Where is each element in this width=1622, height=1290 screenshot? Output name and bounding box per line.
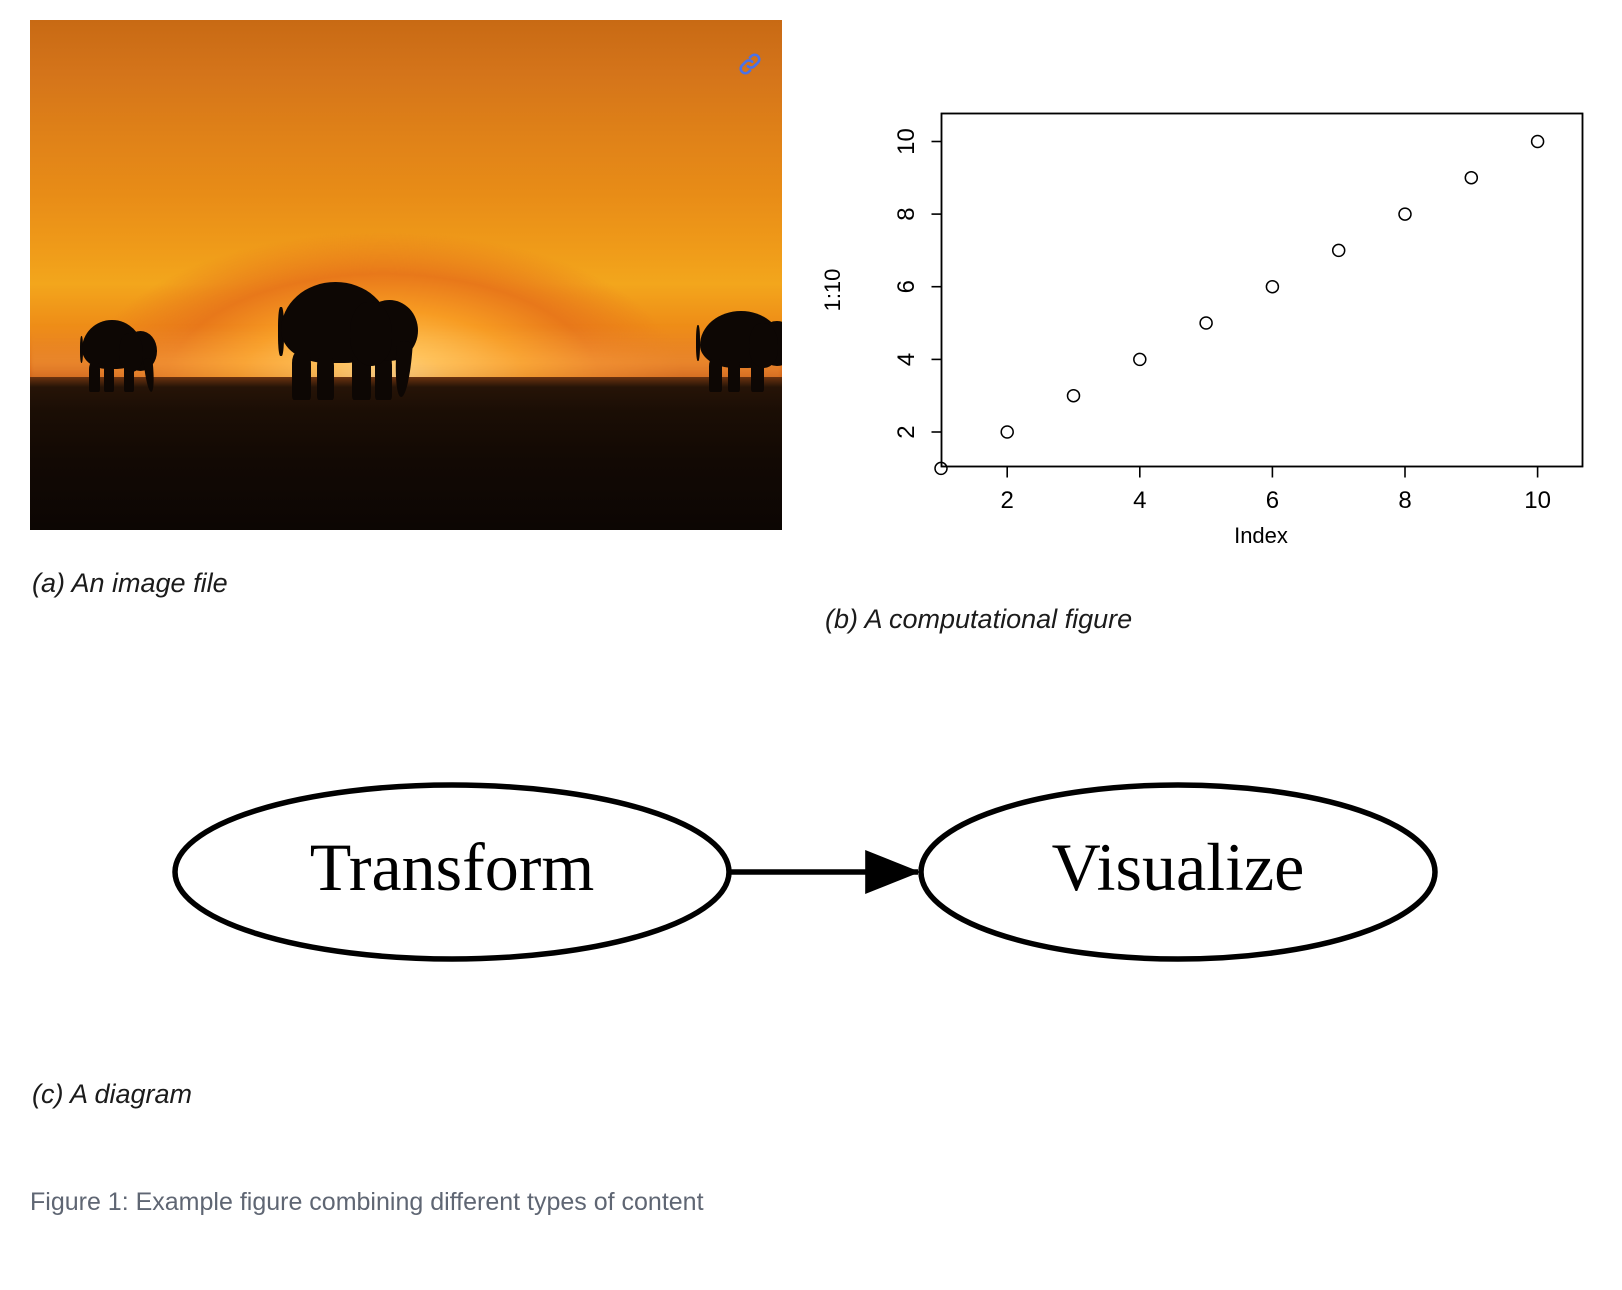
node-visualize-label: Visualize	[1052, 829, 1305, 905]
y-tick-label: 6	[893, 280, 920, 293]
x-tick-label: 10	[1524, 487, 1551, 514]
y-axis-ticks	[932, 142, 942, 433]
link-icon[interactable]	[736, 50, 764, 78]
figure-caption: Figure 1: Example figure combining diffe…	[30, 1188, 704, 1217]
elephant-sunset-photo	[30, 20, 782, 530]
y-tick-label: 10	[893, 128, 920, 155]
node-transform[interactable]: Transform	[175, 785, 729, 959]
elephant-silhouette-right	[692, 306, 782, 393]
r-scatter-plot: 2 4 6 8 10 2 4 6 8 10 1:10 Index	[800, 80, 1600, 570]
panel-computational-figure: 2 4 6 8 10 2 4 6 8 10 1:10 Index	[800, 80, 1600, 570]
x-tick-label: 8	[1398, 487, 1411, 514]
elephant-silhouette-left	[79, 316, 162, 393]
elephant-leg	[709, 359, 723, 392]
elephant-leg	[104, 364, 114, 392]
elephant-leg	[292, 353, 311, 400]
elephant-silhouette-center	[278, 278, 421, 400]
panel-diagram: Transform Visualize	[150, 760, 1470, 990]
subcaption-a: (a) An image file	[32, 568, 228, 599]
elephant-leg	[89, 363, 100, 392]
subcaption-c: (c) A diagram	[32, 1079, 192, 1110]
elephant-trunk	[393, 341, 413, 398]
elephant-leg	[728, 360, 741, 392]
y-tick-label: 4	[893, 353, 920, 366]
x-tick-label: 2	[1001, 487, 1014, 514]
node-visualize[interactable]: Visualize	[921, 785, 1435, 959]
transform-visualize-graph: Transform Visualize	[150, 760, 1470, 990]
plot-box-frame	[942, 114, 1583, 467]
x-axis-tick-labels: 2 4 6 8 10	[1001, 487, 1551, 514]
x-tick-label: 6	[1266, 487, 1279, 514]
y-axis-tick-labels: 2 4 6 8 10	[893, 128, 920, 439]
elephant-ear	[749, 323, 778, 368]
node-transform-label: Transform	[310, 829, 595, 905]
y-tick-label: 8	[893, 207, 920, 220]
y-tick-label: 2	[893, 425, 920, 438]
subcaption-b: (b) A computational figure	[825, 604, 1132, 635]
x-tick-label: 4	[1133, 487, 1146, 514]
x-axis-label: Index	[1234, 523, 1288, 548]
panel-image-file	[30, 20, 782, 530]
elephant-trunk	[143, 357, 156, 391]
elephant-ear	[350, 302, 393, 366]
elephant-leg	[317, 356, 334, 400]
elephant-ear	[119, 333, 144, 373]
ground-plain	[30, 377, 782, 530]
y-axis-label: 1:10	[820, 269, 845, 312]
x-axis-ticks	[1007, 467, 1537, 478]
